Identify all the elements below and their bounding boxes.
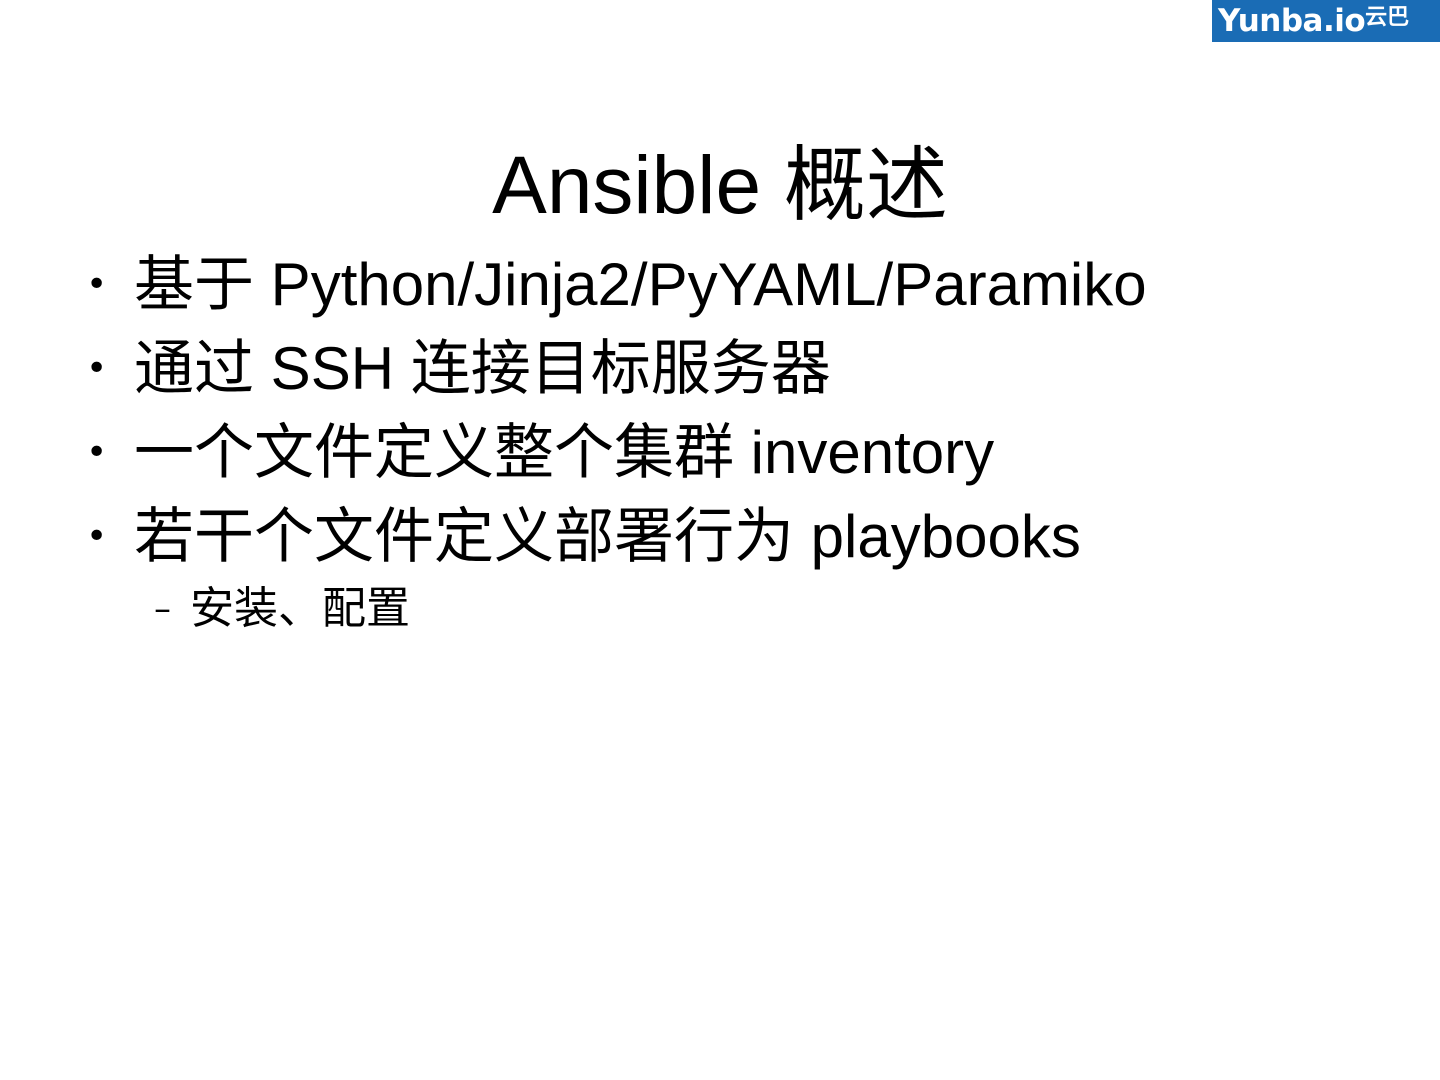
dash-bullet-icon: – (154, 580, 190, 638)
yunba-logo-latin-text: Yunba.io (1218, 6, 1365, 37)
bullet-point-icon: • (78, 498, 134, 576)
bullet-point-icon: • (78, 246, 134, 324)
list-item-label: 若干个文件定义部署行为 playbooks (134, 498, 1398, 576)
bullet-point-icon: • (78, 414, 134, 492)
list-item-label: 基于 Python/Jinja2/PyYAML/Paramiko (134, 246, 1398, 324)
list-item: • 基于 Python/Jinja2/PyYAML/Paramiko (78, 246, 1398, 324)
slide-canvas: Yunba.io云巴 Ansible 概述 • 基于 Python/Jinja2… (0, 0, 1440, 1080)
list-item: • 一个文件定义整个集群 inventory (78, 414, 1398, 492)
yunba-logo-cn-text: 云巴 (1365, 7, 1409, 29)
sub-list-item-label: 安装、配置 (190, 580, 1398, 638)
bullet-point-icon: • (78, 330, 134, 408)
list-item: • 若干个文件定义部署行为 playbooks (78, 498, 1398, 576)
yunba-logo: Yunba.io云巴 (1212, 0, 1440, 42)
sub-list-item: – 安装、配置 (78, 580, 1398, 638)
list-item-label: 一个文件定义整个集群 inventory (134, 414, 1398, 492)
list-item: • 通过 SSH 连接目标服务器 (78, 330, 1398, 408)
bullet-list: • 基于 Python/Jinja2/PyYAML/Paramiko • 通过 … (78, 246, 1398, 638)
list-item-label: 通过 SSH 连接目标服务器 (134, 330, 1398, 408)
page-title: Ansible 概述 (0, 143, 1440, 229)
